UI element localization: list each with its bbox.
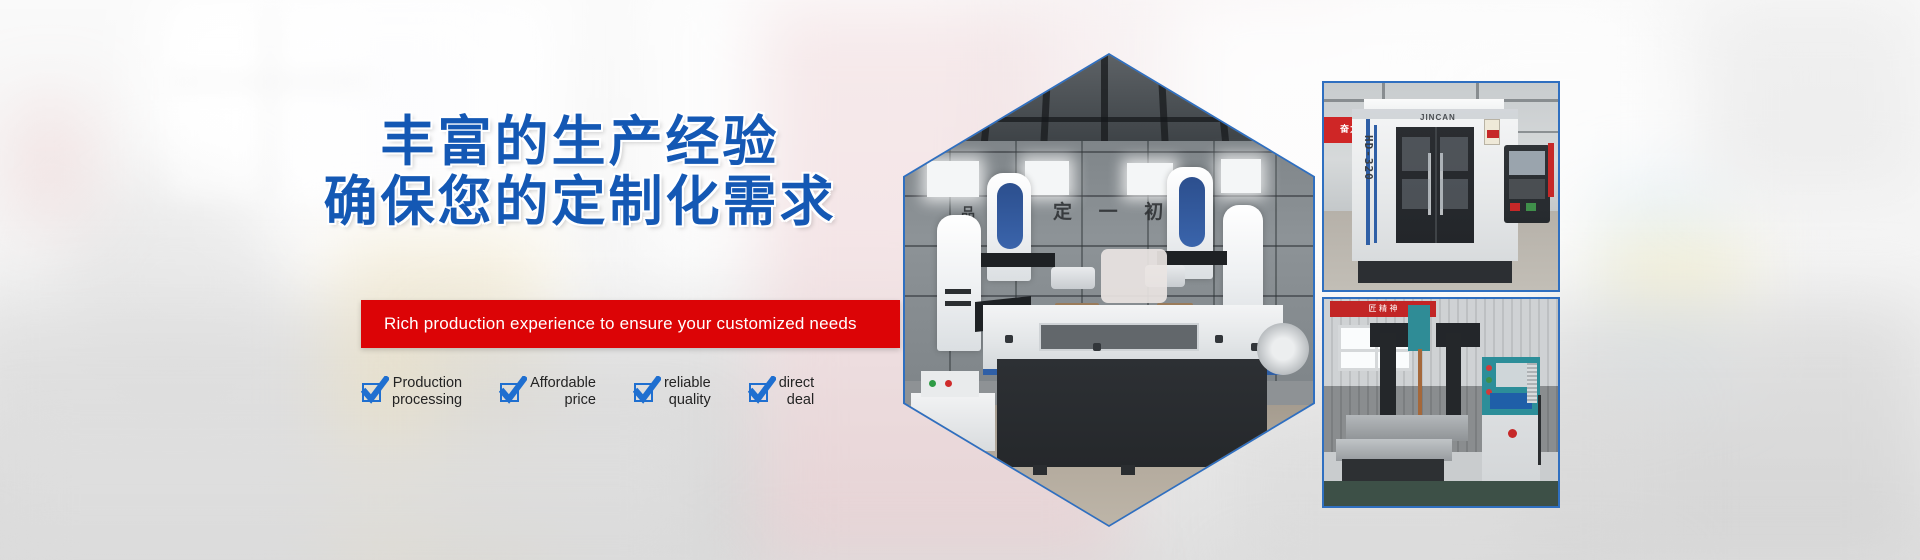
machine-bed-window: [1039, 323, 1199, 351]
headline-line-2: 确保您的定制化需求: [300, 172, 860, 232]
photo-bottom-drill-head: [1408, 305, 1430, 351]
scene-roof: [905, 55, 1313, 145]
photo-top-model-label: HD-320: [1362, 135, 1375, 181]
photo-bottom-worktable: [1346, 415, 1468, 441]
checkbox-checked-icon[interactable]: [362, 383, 381, 402]
photo-machining-center[interactable]: 奋力 HD-320 JINCAN: [1322, 81, 1560, 292]
machine-arm-right: [1157, 251, 1227, 265]
checkbox-checked-icon[interactable]: [634, 383, 653, 402]
feature-label: Production processing: [392, 375, 462, 409]
hero-banner: 丰富的生产经验 确保您的定制化需求 Rich production experi…: [0, 0, 1920, 560]
scene-wall-text: 定 一 初: [1053, 197, 1173, 224]
operator-box: [921, 371, 979, 397]
machine-head-window-left: [997, 183, 1023, 249]
feature-item[interactable]: direct deal: [749, 375, 814, 409]
photo-top-warning-sticker: [1484, 119, 1500, 145]
photo-bottom-control-cabinet: [1482, 357, 1540, 497]
spindle-left: [1051, 267, 1095, 289]
feature-item[interactable]: reliable quality: [634, 375, 711, 409]
feature-list: Production processing Affordable price r…: [362, 375, 814, 409]
machine-head-window-right: [1179, 177, 1205, 247]
feature-label: direct deal: [779, 375, 814, 409]
headline: 丰富的生产经验 确保您的定制化需求: [300, 112, 860, 232]
photo-top-control-panel: [1504, 145, 1550, 223]
subtitle-bar: Rich production experience to ensure you…: [361, 300, 900, 348]
headline-line-1: 丰富的生产经验: [300, 112, 860, 172]
photo-bottom-floor: [1324, 481, 1558, 506]
photo-bottom-power-cord: [1538, 395, 1541, 465]
coil-reel: [1257, 323, 1309, 375]
workshop-scene: 定 一 初 品: [905, 55, 1313, 525]
photo-top-machine-plinth: [1358, 261, 1512, 283]
feature-label: Affordable price: [530, 375, 596, 409]
machine-base: [997, 359, 1267, 467]
photo-top-brand-label: JINCAN: [1420, 113, 1456, 122]
photo-top-red-accent: [1548, 143, 1554, 197]
machine-arm-left: [981, 253, 1055, 267]
subtitle-text: Rich production experience to ensure you…: [384, 314, 857, 334]
conveyor: [911, 393, 995, 451]
photo-bottom-worktable-lower: [1336, 439, 1452, 461]
hexagon-photo-inner: 定 一 初 品: [905, 55, 1313, 525]
photo-top-machine-door: [1396, 127, 1474, 243]
checkbox-checked-icon[interactable]: [749, 383, 768, 402]
photo-edm-machine[interactable]: 匠 精 神: [1322, 297, 1560, 508]
feature-item[interactable]: Production processing: [362, 375, 462, 409]
wrapped-parts: [1101, 249, 1167, 303]
checkbox-checked-icon[interactable]: [500, 383, 519, 402]
feature-label: reliable quality: [664, 375, 711, 409]
feature-item[interactable]: Affordable price: [500, 375, 596, 409]
hexagon-photo[interactable]: 定 一 初 品: [903, 53, 1315, 527]
